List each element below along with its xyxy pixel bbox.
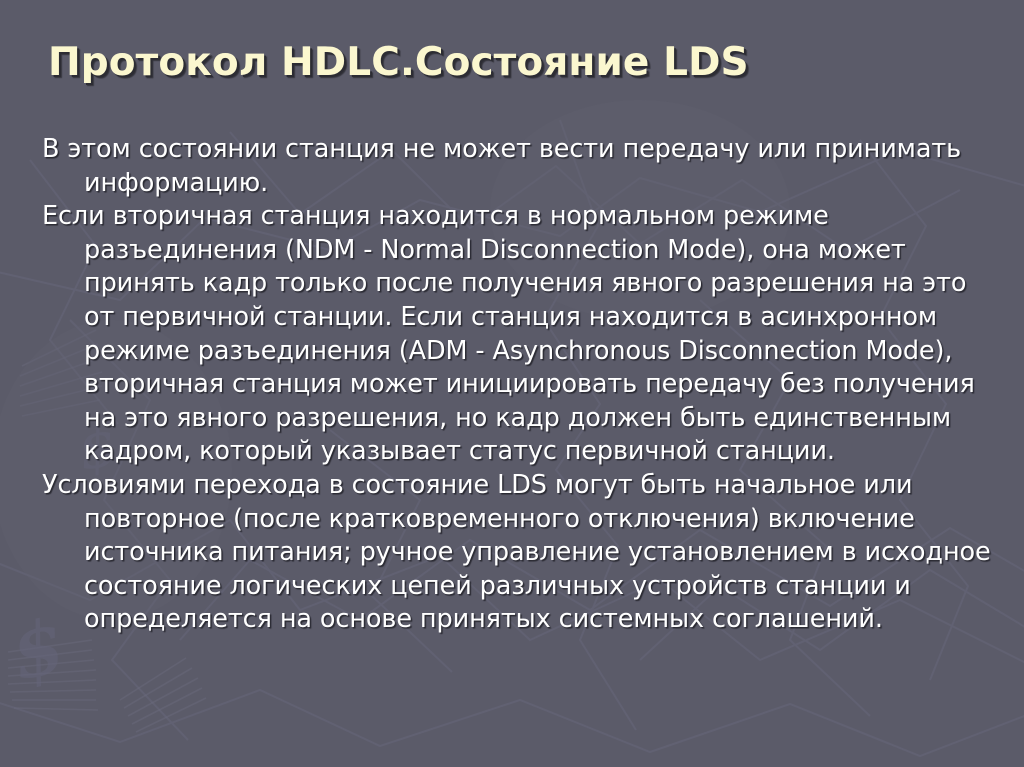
body-paragraph-2: Если вторичная станция находится в норма… [42, 200, 994, 469]
page-title: Протокол HDLC.Состояние LDS [48, 40, 968, 86]
slide-body-block: В этом состоянии станция не может вести … [42, 133, 994, 637]
body-paragraph-3: Условиями перехода в состояние LDS могут… [42, 469, 994, 637]
presentation-slide: $ $ Протокол HDLC.Состояние LDS В этом с… [0, 0, 1024, 767]
slide-title-block: Протокол HDLC.Состояние LDS [48, 40, 968, 86]
body-paragraph-1: В этом состоянии станция не может вести … [42, 133, 994, 200]
